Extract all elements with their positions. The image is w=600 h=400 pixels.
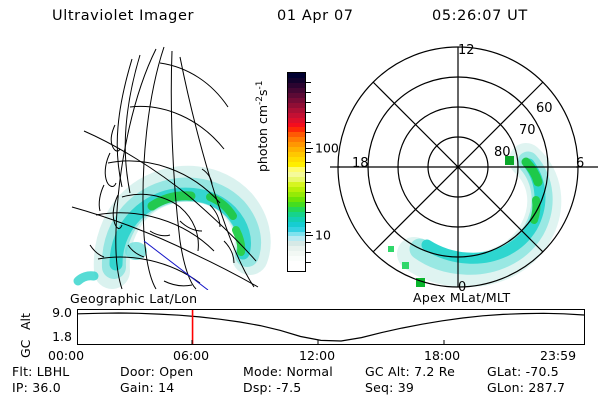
colorbar-ticks — [306, 72, 313, 272]
colorbar-minor-tick — [306, 112, 311, 113]
observation-time: 05:26:07 UT — [432, 8, 528, 24]
colorbar-major-tick — [306, 235, 313, 236]
colorbar-minor-tick — [306, 262, 311, 263]
orbit-xtick-label-4: 23:59 — [540, 348, 576, 363]
status-bar: Flt: LBHLDoor: OpenMode: NormalGC Alt: 7… — [0, 364, 600, 398]
uvi-screenshot: Ultraviolet Imager 01 Apr 07 05:26:07 UT — [0, 0, 600, 400]
colorbar-minor-tick — [306, 202, 311, 203]
mlat-label-70: 70 — [519, 123, 536, 138]
observation-date: 01 Apr 07 — [277, 8, 354, 24]
colorbar-minor-tick — [306, 142, 311, 143]
colorbar-minor-tick — [306, 152, 311, 153]
colorbar-minor-tick — [306, 242, 311, 243]
orbit-xtick-label-1: 06:00 — [173, 348, 209, 363]
apex-plot-panel: 121860607080 Apex MLat/MLT — [330, 40, 600, 295]
colorbar-minor-tick — [306, 222, 311, 223]
colorbar-gradient — [287, 72, 306, 272]
geographic-plot-svg — [60, 45, 275, 290]
colorbar-minor-tick — [306, 132, 311, 133]
header-bar: Ultraviolet Imager 01 Apr 07 05:26:07 UT — [0, 6, 600, 32]
colorbar-band-39 — [288, 266, 305, 271]
geographic-caption: Geographic Lat/Lon — [70, 291, 197, 306]
colorbar-major-tick — [306, 148, 313, 149]
colorbar-minor-tick — [306, 122, 311, 123]
orbit-yaxis-title-gc: GC — [18, 340, 33, 358]
colorbar-minor-tick — [306, 102, 311, 103]
status-field-dsp: Dsp: -7.5 — [243, 380, 301, 395]
apex-plot-svg: 121860607080 — [330, 40, 600, 295]
status-field-seq: Seq: 39 — [365, 380, 414, 395]
geographic-plot-panel: Geographic Lat/Lon — [60, 45, 275, 290]
mlt-label-12: 12 — [458, 43, 475, 58]
colorbar-unit-mid: s — [255, 90, 270, 97]
orbit-xtick-marks — [192, 340, 444, 344]
colorbar-minor-tick — [306, 162, 311, 163]
orbit-xtick-label-3: 18:00 — [424, 348, 460, 363]
colorbar-minor-tick — [306, 212, 311, 213]
status-field-mode: Mode: Normal — [243, 364, 333, 379]
mlat-label-80: 80 — [494, 145, 511, 160]
orbit-ytick-low: 1.8 — [36, 329, 72, 344]
colorbar-minor-tick — [306, 192, 311, 193]
mlt-label-6: 6 — [576, 156, 584, 171]
orbit-yaxis-title-alt: Alt — [18, 313, 33, 330]
status-field-door: Door: Open — [120, 364, 193, 379]
status-field-ip: IP: 36.0 — [12, 380, 61, 395]
orbit-xtick-label-0: 00:00 — [48, 348, 84, 363]
mlat-label-60: 60 — [536, 101, 553, 116]
orbit-altitude-plot[interactable] — [77, 309, 585, 345]
colorbar-unit-exp2: -1 — [255, 81, 265, 90]
mlt-spokes — [338, 47, 578, 287]
colorbar-unit-main: photon cm — [255, 105, 270, 172]
status-field-glat: GLat: -70.5 — [487, 364, 559, 379]
colorbar-unit-exp1: -2 — [255, 96, 265, 105]
colorbar-axis-title: photon cm-2s-1 — [255, 81, 270, 172]
status-field-gcalt: GC Alt: 7.2 Re — [365, 364, 455, 379]
apex-caption: Apex MLat/MLT — [413, 290, 510, 305]
mlt-label-18: 18 — [352, 156, 369, 171]
instrument-title: Ultraviolet Imager — [52, 8, 194, 24]
orbit-xtick-label-2: 12:00 — [299, 348, 335, 363]
colorbar-minor-tick — [306, 182, 311, 183]
status-field-gain: Gain: 14 — [120, 380, 174, 395]
colorbar-minor-tick — [306, 92, 311, 93]
colorbar — [287, 72, 306, 272]
colorbar-minor-tick — [306, 172, 311, 173]
orbit-altitude-trace — [78, 313, 584, 341]
status-field-glon: GLon: 287.7 — [487, 380, 565, 395]
orbit-altitude-svg — [78, 310, 584, 344]
colorbar-tick-label-1: 10 — [315, 228, 331, 243]
status-field-flt: Flt: LBHL — [12, 364, 69, 379]
colorbar-minor-tick — [306, 232, 311, 233]
colorbar-minor-tick — [306, 82, 311, 83]
orbit-ytick-high: 9.0 — [36, 305, 72, 320]
colorbar-minor-tick — [306, 252, 311, 253]
